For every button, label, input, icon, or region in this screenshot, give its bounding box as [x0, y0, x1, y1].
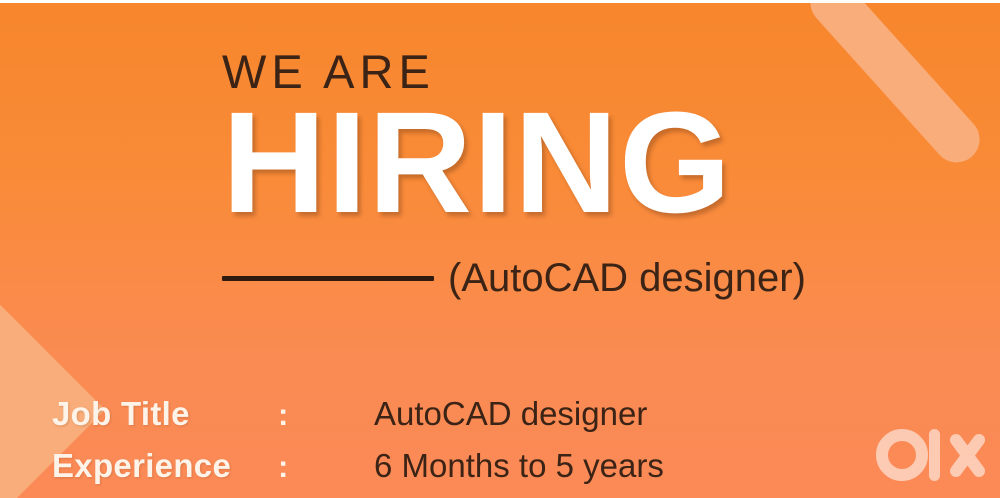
- details-list: Job Title : AutoCAD designer Experience …: [52, 395, 664, 498]
- hiring-poster: WE ARE HIRING (AutoCAD designer) Job Tit…: [0, 0, 1000, 498]
- detail-label-experience: Experience: [52, 447, 278, 485]
- detail-row: Job Title : AutoCAD designer: [52, 395, 664, 447]
- horizontal-rule: [222, 276, 434, 281]
- top-edge-strip: [0, 0, 1000, 3]
- olx-logo-icon: [876, 421, 988, 491]
- subtitle-row: (AutoCAD designer): [222, 258, 806, 298]
- olx-watermark: [876, 421, 988, 491]
- detail-value-job-title: AutoCAD designer: [374, 395, 647, 433]
- detail-row: Experience : 6 Months to 5 years: [52, 447, 664, 498]
- detail-separator: :: [278, 397, 374, 433]
- detail-value-experience: 6 Months to 5 years: [374, 447, 664, 485]
- detail-label-job-title: Job Title: [52, 395, 278, 433]
- decorative-corner-stripe: [801, 0, 989, 172]
- subtitle-text: (AutoCAD designer): [448, 258, 806, 298]
- headline-block: WE ARE HIRING: [222, 48, 732, 229]
- detail-separator: :: [278, 449, 374, 485]
- headline-text: HIRING: [222, 97, 732, 229]
